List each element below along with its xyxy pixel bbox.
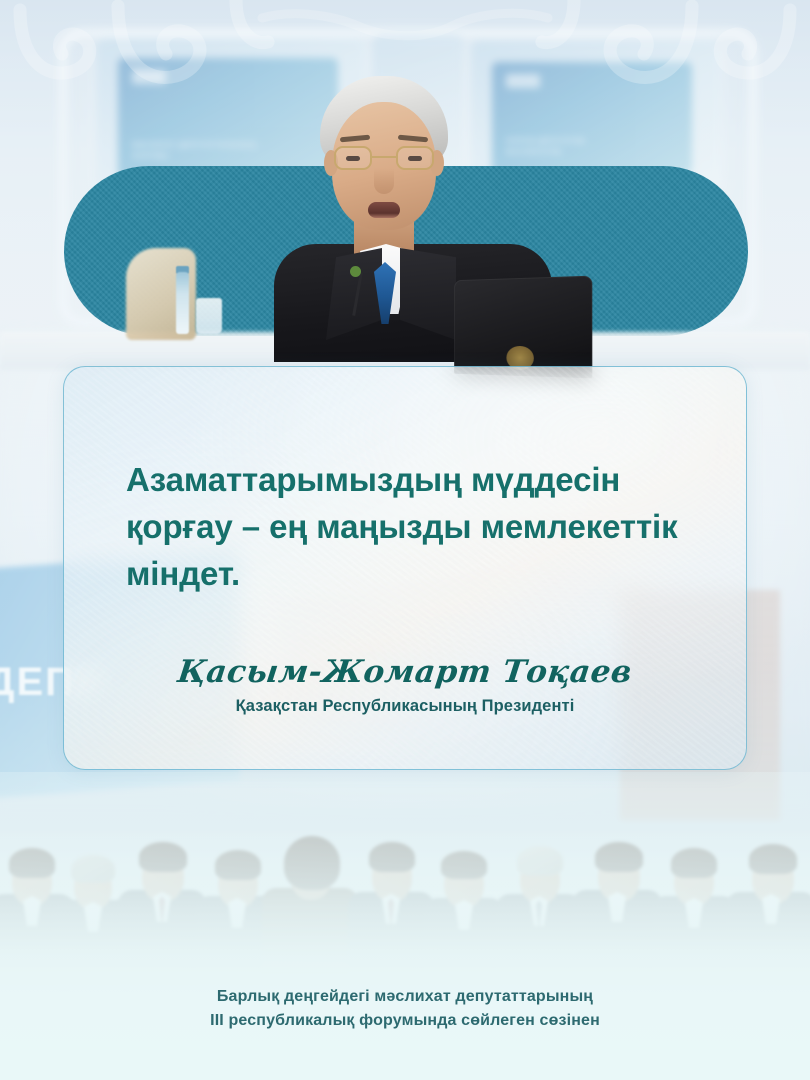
portrait-mouth: [368, 202, 400, 218]
portrait-microphone-head: [350, 266, 361, 277]
portrait-glasses-left: [334, 146, 372, 170]
quote-card: Азаматтарымыздың мүддесін қорғау – ең ма…: [63, 366, 747, 770]
portrait-tablet: [454, 276, 592, 379]
signature-name: Қасым-Жомарт Тоқаев: [176, 655, 634, 689]
footer-source-text: Барлық деңгейдегі мәслихат депутаттарыны…: [0, 985, 810, 1033]
president-portrait: [268, 76, 558, 360]
attribution-block: Қасым-Жомарт Тоқаев Қазақстан Республика…: [64, 655, 746, 716]
water-bottle: [176, 272, 189, 334]
quote-poster: Мәслихат депутаттарының форумы Форум деп…: [0, 0, 810, 1080]
portrait-glasses-right: [396, 146, 434, 170]
quote-text: Азаматтарымыздың мүддесін қорғау – ең ма…: [126, 457, 706, 598]
signature-role: Қазақстан Республикасының Президенті: [64, 697, 746, 716]
portrait-nose: [374, 168, 394, 194]
water-glass: [196, 298, 222, 334]
portrait-glasses-bridge: [372, 156, 396, 158]
